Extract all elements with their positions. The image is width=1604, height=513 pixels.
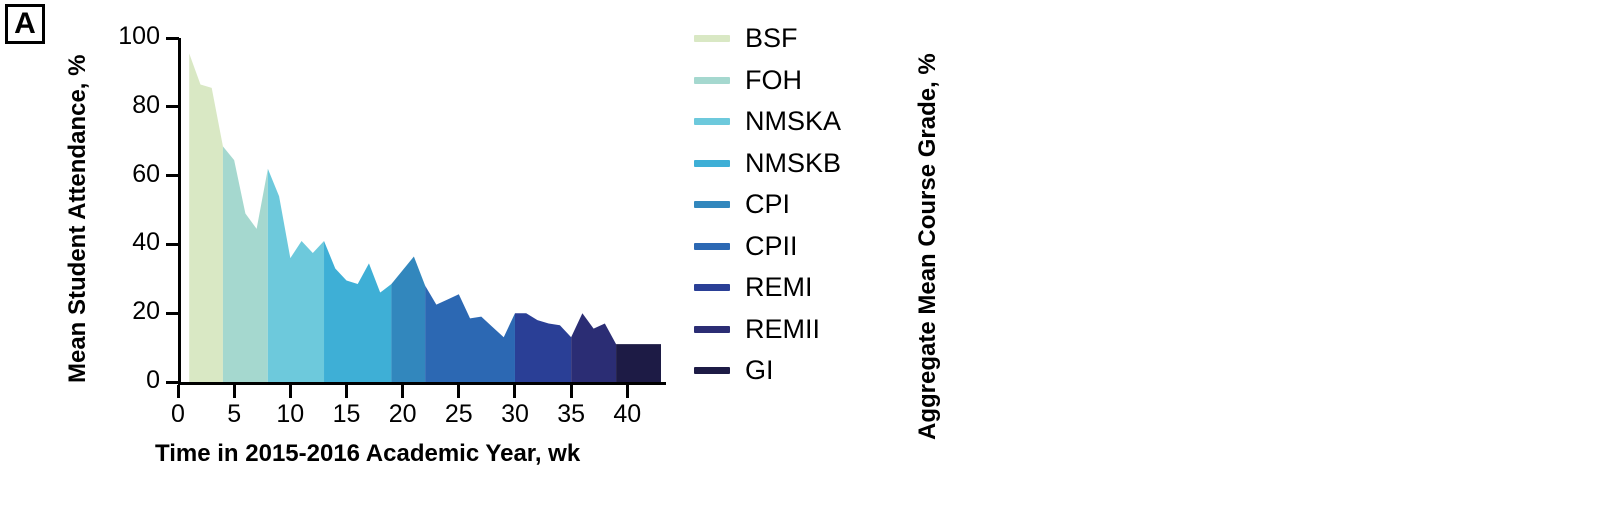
legend-item-foh[interactable]: FOH xyxy=(694,60,844,102)
panel-b-y-axis-title: Aggregate Mean Course Grade, % xyxy=(914,53,942,440)
panel-a-x-tick xyxy=(233,385,236,398)
panel-a-x-tick-label: 20 xyxy=(373,400,433,429)
figure-root: A Mean Student Attendance, % 02040608010… xyxy=(0,0,1604,513)
legend-swatch-remi xyxy=(694,284,730,291)
panel-a-x-tick xyxy=(457,385,460,398)
area-band-cpi xyxy=(391,256,425,382)
panel-a-x-tick xyxy=(626,385,629,398)
panel-a-x-tick-label: 15 xyxy=(316,400,376,429)
legend-swatch-cpii xyxy=(694,243,730,250)
legend-item-remi[interactable]: REMI xyxy=(694,267,844,309)
area-band-nmskb xyxy=(324,241,391,382)
panel-a-y-tick-label: 40 xyxy=(90,228,160,257)
panel-a-y-tick-label: 60 xyxy=(90,160,160,189)
legend-label: NMSKB xyxy=(745,148,841,179)
legend-swatch-gi xyxy=(694,367,730,374)
legend-item-bsf[interactable]: BSF xyxy=(694,18,844,60)
panel-a-x-tick-label: 25 xyxy=(429,400,489,429)
panel-a-x-tick xyxy=(177,385,180,398)
panel-a-y-tick xyxy=(166,381,179,384)
panel-a-x-tick xyxy=(513,385,516,398)
legend-swatch-nmskb xyxy=(694,160,730,167)
panel-a-x-tick-label: 10 xyxy=(260,400,320,429)
panel-a-x-axis-title: Time in 2015-2016 Academic Year, wk xyxy=(155,440,580,468)
panel-a-plot-area xyxy=(178,38,661,382)
panel-b: B Aggregate Mean Course Grade, % 6570758… xyxy=(840,0,1604,513)
panel-a-x-axis-line xyxy=(178,382,666,385)
panel-a-y-tick xyxy=(166,37,179,40)
legend-swatch-nmska xyxy=(694,118,730,125)
panel-a-y-tick xyxy=(166,243,179,246)
panel-a-y-axis-line xyxy=(178,38,181,384)
legend-label: CPII xyxy=(745,231,798,262)
panel-a-x-tick-label: 0 xyxy=(148,400,208,429)
panel-a-x-tick xyxy=(570,385,573,398)
panel-a-y-tick-label: 80 xyxy=(90,91,160,120)
panel-a-y-tick xyxy=(166,105,179,108)
legend-swatch-remii xyxy=(694,326,730,333)
legend-label: FOH xyxy=(745,65,802,96)
panel-a-y-tick-label: 0 xyxy=(90,366,160,395)
panel-a-y-tick xyxy=(166,312,179,315)
panel-a-x-tick-label: 5 xyxy=(204,400,264,429)
panel-a: A Mean Student Attendance, % 02040608010… xyxy=(0,0,840,513)
legend-item-cpii[interactable]: CPII xyxy=(694,226,844,268)
legend-label: GI xyxy=(745,355,774,386)
panel-a-letter: A xyxy=(5,4,45,44)
legend-item-remii[interactable]: REMII xyxy=(694,309,844,351)
legend-item-nmskb[interactable]: NMSKB xyxy=(694,143,844,185)
area-band-nmska xyxy=(268,169,324,382)
panel-a-area-chart xyxy=(178,38,661,382)
area-band-remi xyxy=(515,313,571,382)
panel-a-x-tick xyxy=(289,385,292,398)
legend-label: BSF xyxy=(745,23,798,54)
legend-swatch-foh xyxy=(694,77,730,84)
panel-a-x-tick-label: 35 xyxy=(541,400,601,429)
area-band-cpii xyxy=(425,286,515,382)
area-band-remii xyxy=(571,313,616,382)
panel-a-x-tick-label: 30 xyxy=(485,400,545,429)
legend-label: NMSKA xyxy=(745,106,841,137)
panel-a-y-tick xyxy=(166,174,179,177)
legend-item-cpi[interactable]: CPI xyxy=(694,184,844,226)
legend-swatch-cpi xyxy=(694,201,730,208)
area-band-foh xyxy=(223,146,268,382)
legend-item-nmska[interactable]: NMSKA xyxy=(694,101,844,143)
panel-a-legend: BSFFOHNMSKANMSKBCPICPIIREMIREMIIGI xyxy=(694,18,844,392)
legend-label: REMI xyxy=(745,272,813,303)
panel-a-y-tick-label: 20 xyxy=(90,297,160,326)
panel-a-x-tick-label: 40 xyxy=(597,400,657,429)
panel-a-y-tick-label: 100 xyxy=(90,22,160,51)
area-band-bsf xyxy=(189,53,223,382)
panel-a-x-tick xyxy=(401,385,404,398)
panel-a-x-tick xyxy=(345,385,348,398)
legend-label: REMII xyxy=(745,314,820,345)
area-band-gi xyxy=(616,344,661,382)
legend-item-gi[interactable]: GI xyxy=(694,350,844,392)
panel-a-y-axis-title: Mean Student Attendance, % xyxy=(64,55,92,383)
legend-label: CPI xyxy=(745,189,790,220)
legend-swatch-bsf xyxy=(694,35,730,42)
